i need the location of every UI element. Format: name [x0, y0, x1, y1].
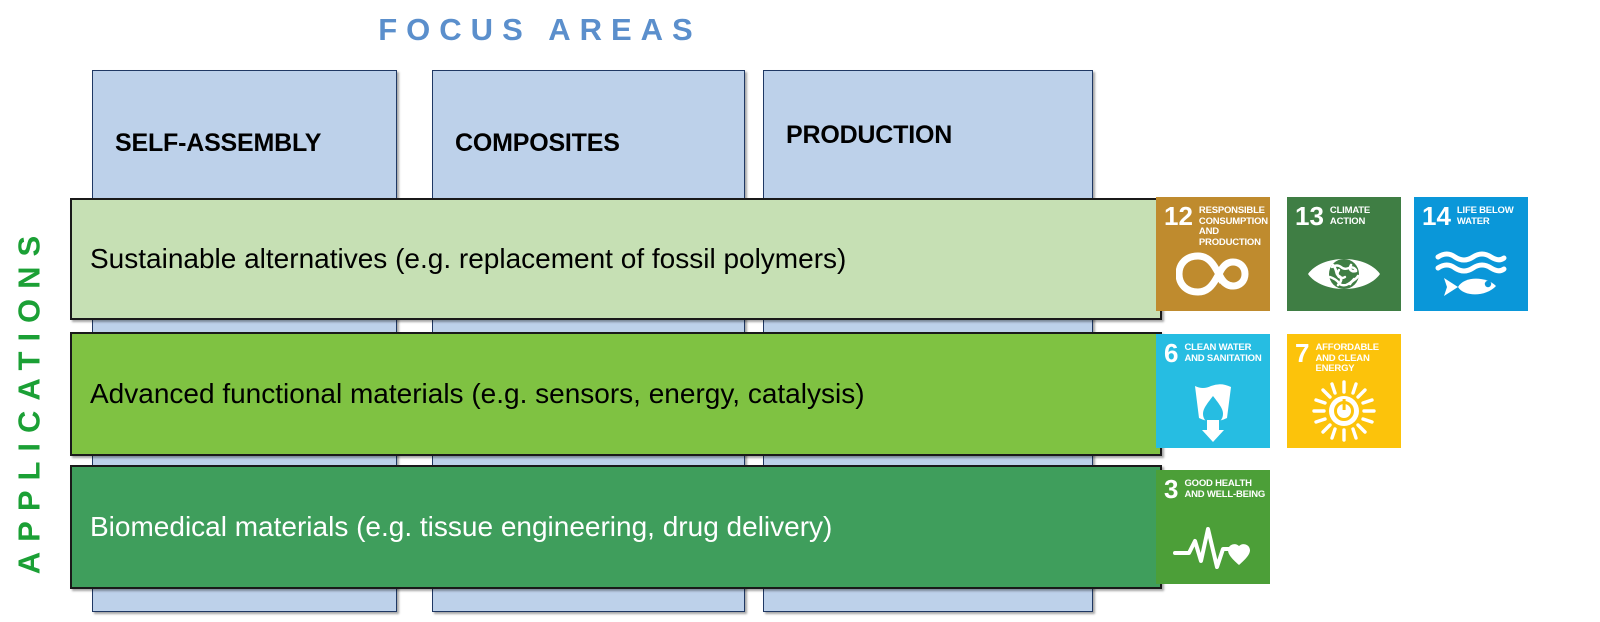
sdg-goal-3[interactable]: 3GOOD HEALTH AND WELL-BEING — [1156, 470, 1270, 584]
sdg-number: 13 — [1295, 204, 1324, 229]
sdg-number: 12 — [1164, 204, 1193, 229]
applications-title-text: APPLICATIONS — [11, 226, 47, 575]
sdg-name: LIFE BELOW WATER — [1457, 206, 1524, 227]
application-bar-1[interactable]: Sustainable alternatives (e.g. replaceme… — [70, 198, 1162, 320]
application-bar-label: Advanced functional materials (e.g. sens… — [72, 378, 865, 410]
applications-axis-title: APPLICATIONS — [0, 190, 60, 610]
sdg-name: CLIMATE ACTION — [1330, 206, 1397, 227]
sdg-header: 3GOOD HEALTH AND WELL-BEING — [1164, 477, 1266, 502]
infinity-loop-icon — [1156, 243, 1270, 305]
heartbeat-icon — [1156, 516, 1270, 578]
sdg-goal-13[interactable]: 13CLIMATE ACTION — [1287, 197, 1401, 311]
sdg-number: 14 — [1422, 204, 1451, 229]
sdg-header: 14LIFE BELOW WATER — [1422, 204, 1524, 229]
focus-column-label: COMPOSITES — [455, 129, 620, 158]
sun-power-icon — [1287, 380, 1401, 442]
focus-column-label: PRODUCTION — [786, 121, 952, 150]
eye-globe-icon — [1287, 243, 1401, 305]
focus-column-label: SELF-ASSEMBLY — [115, 129, 321, 158]
sdg-header: 13CLIMATE ACTION — [1295, 204, 1397, 229]
sdg-number: 7 — [1295, 341, 1309, 366]
application-bar-3[interactable]: Biomedical materials (e.g. tissue engine… — [70, 465, 1162, 589]
sdg-name: CLEAN WATER AND SANITATION — [1184, 343, 1266, 364]
sdg-name: GOOD HEALTH AND WELL-BEING — [1184, 479, 1266, 500]
focus-areas-title: FOCUS AREAS — [340, 12, 740, 48]
sdg-name: AFFORDABLE AND CLEAN ENERGY — [1315, 343, 1397, 375]
diagram-canvas: FOCUS AREAS APPLICATIONS SELF-ASSEMBLYCO… — [0, 0, 1600, 622]
sdg-goal-14[interactable]: 14LIFE BELOW WATER — [1414, 197, 1528, 311]
application-bar-2[interactable]: Advanced functional materials (e.g. sens… — [70, 332, 1162, 456]
sdg-header: 6CLEAN WATER AND SANITATION — [1164, 341, 1266, 366]
sdg-goal-7[interactable]: 7AFFORDABLE AND CLEAN ENERGY — [1287, 334, 1401, 448]
sdg-header: 7AFFORDABLE AND CLEAN ENERGY — [1295, 341, 1397, 375]
sdg-goal-12[interactable]: 12RESPONSIBLE CONSUMPTION AND PRODUCTION — [1156, 197, 1270, 311]
sdg-number: 3 — [1164, 477, 1178, 502]
sdg-number: 6 — [1164, 341, 1178, 366]
sdg-goal-6[interactable]: 6CLEAN WATER AND SANITATION — [1156, 334, 1270, 448]
sdg-header: 12RESPONSIBLE CONSUMPTION AND PRODUCTION — [1164, 204, 1266, 249]
fish-waves-icon — [1414, 243, 1528, 305]
application-bar-label: Biomedical materials (e.g. tissue engine… — [72, 511, 832, 543]
application-bar-label: Sustainable alternatives (e.g. replaceme… — [72, 243, 846, 275]
water-glass-droplet-icon — [1156, 380, 1270, 442]
